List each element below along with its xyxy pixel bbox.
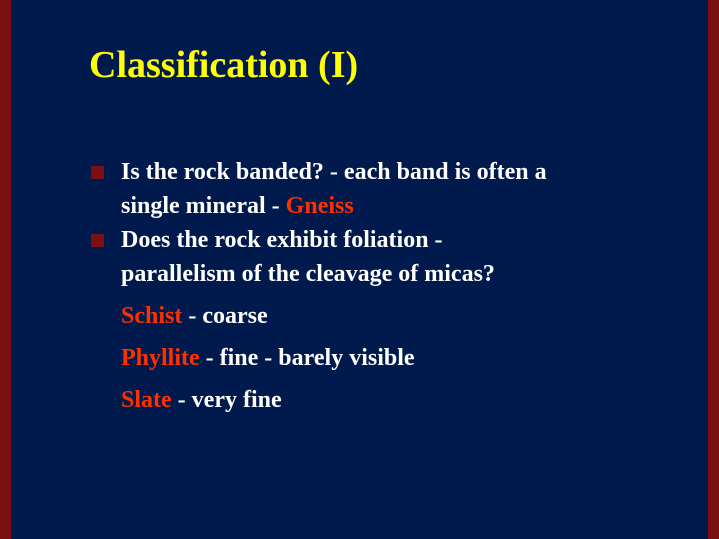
slide-canvas: Classification (I) Is the rock banded? -… — [11, 0, 708, 539]
square-bullet-icon — [91, 234, 104, 247]
sub-item-slate-term: Slate — [121, 387, 172, 413]
bullet-item-2: Does the rock exhibit foliation - parall… — [89, 223, 689, 291]
left-border-strip — [0, 0, 11, 539]
sub-item-slate: Slate - very fine — [89, 379, 689, 421]
slide-title: Classification (I) — [89, 46, 358, 86]
slide-body: Is the rock banded? - each band is often… — [89, 155, 689, 421]
bullet-2-line-1: Does the rock exhibit foliation - — [121, 227, 443, 253]
bullet-item-1: Is the rock banded? - each band is often… — [89, 155, 689, 223]
sub-item-schist-rest: - coarse — [182, 303, 267, 329]
sub-item-phyllite-rest: - fine - barely visible — [200, 345, 415, 371]
right-border-strip — [708, 0, 719, 539]
sub-item-phyllite-term: Phyllite — [121, 345, 200, 371]
sub-item-phyllite: Phyllite - fine - barely visible — [89, 337, 689, 379]
sub-item-schist-term: Schist — [121, 303, 182, 329]
square-bullet-icon — [91, 166, 104, 179]
sub-item-slate-rest: - very fine — [172, 387, 282, 413]
sub-item-schist: Schist - coarse — [89, 295, 689, 337]
bullet-2-line-2: parallelism of the cleavage of micas? — [121, 261, 495, 287]
bullet-1-line-2-plain: single mineral - — [121, 193, 286, 219]
bullet-1-line-1: Is the rock banded? - each band is often… — [121, 159, 547, 185]
slide: Classification (I) Is the rock banded? -… — [0, 0, 719, 539]
bullet-1-line-2-accent: Gneiss — [286, 193, 354, 219]
